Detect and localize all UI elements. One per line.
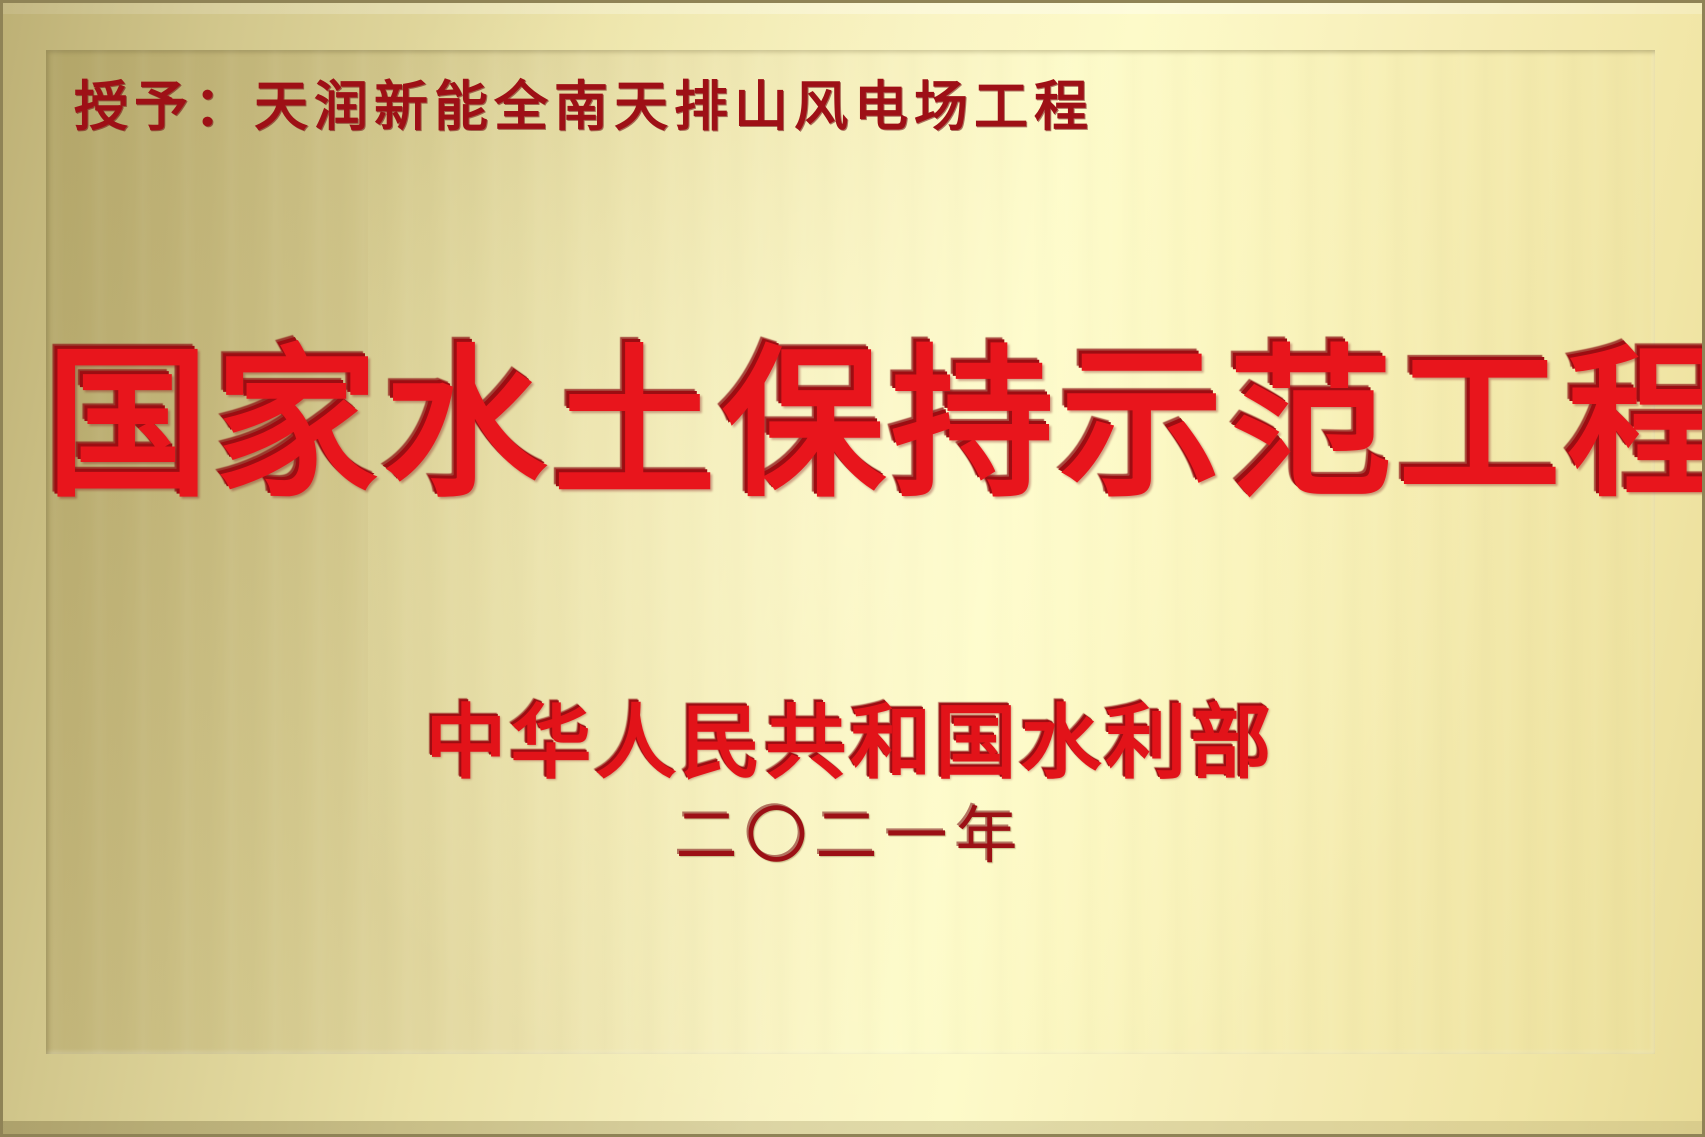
issuing-authority: 中华人民共和国水利部 xyxy=(46,678,1655,795)
award-plaque: 授予：天润新能全南天排山风电场工程 国家水土保持示范工程 中华人民共和国水利部 … xyxy=(0,0,1705,1137)
frame-bottom-shade xyxy=(0,1121,1705,1137)
year-label: 二〇二一年 xyxy=(46,785,1655,875)
awarded-to-line: 授予：天润新能全南天排山风电场工程 xyxy=(74,62,1094,141)
plaque-content: 授予：天润新能全南天排山风电场工程 国家水土保持示范工程 中华人民共和国水利部 … xyxy=(46,50,1655,1054)
frame-top-sheen xyxy=(0,0,1705,14)
page-title: 国家水土保持示范工程 xyxy=(46,342,1655,508)
